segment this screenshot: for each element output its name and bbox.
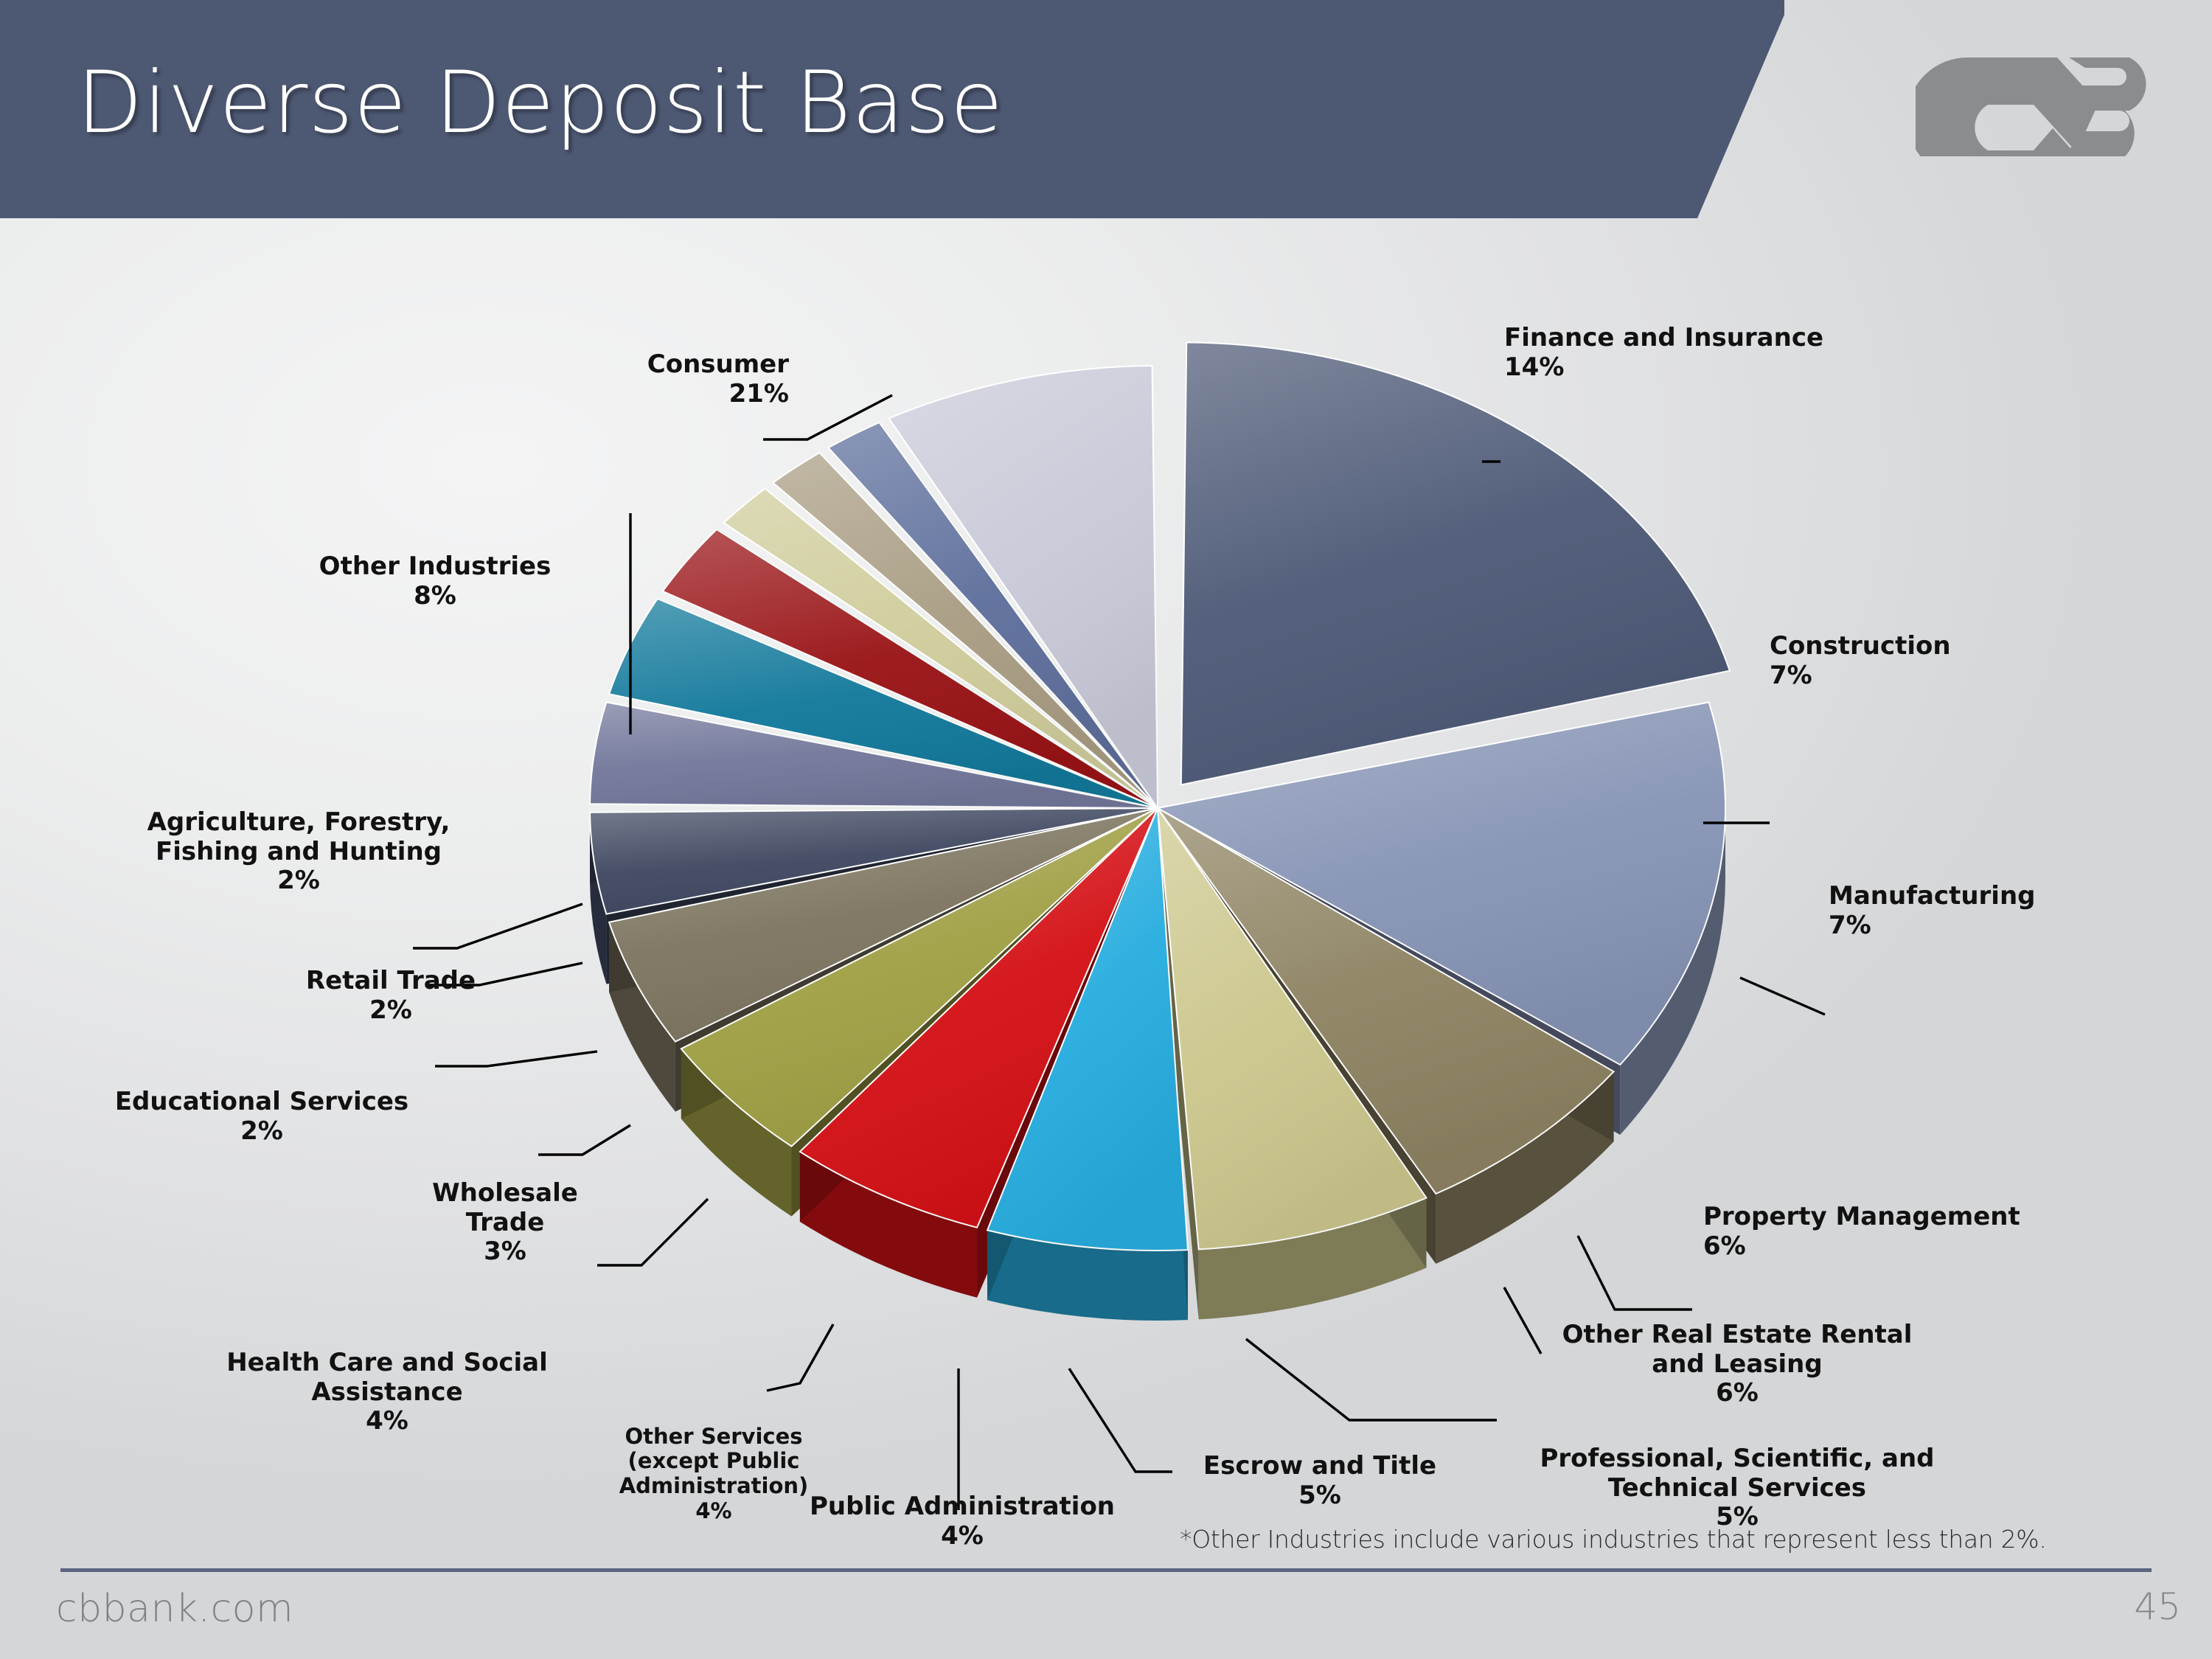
pie-label-health-care-and-social-assistance: Health Care and Social Assistance 4% [184,1320,590,1465]
pie-label-wholesale-trade-name: Wholesale Trade [432,1178,578,1237]
pie-label-agriculture-forestry-fishing-and-hunting: Agriculture, Forestry, Fishing and Hunti… [125,779,472,925]
pie-label-manufacturing-pct: 7% [1829,911,2160,940]
footer-divider [60,1568,2152,1572]
pie-label-health-care-and-social-assistance-name: Health Care and Social Assistance [226,1348,548,1406]
leader-line-10 [597,1199,708,1265]
pie-label-other-real-estate-rental-and-leasing-pct: 6% [1538,1379,1936,1408]
pie-label-educational-services-name: Educational Services [115,1087,408,1116]
leader-line-7 [1069,1368,1172,1472]
pie-label-consumer: Consumer 21% [568,321,789,438]
pie-label-consumer-pct: 21% [568,380,789,408]
pie-label-agriculture-forestry-fishing-and-hunting-pct: 2% [125,866,472,895]
pie-label-educational-services: Educational Services 2% [88,1059,435,1175]
pie-label-finance-and-insurance-name: Finance and Insurance [1504,323,1823,352]
pie-label-property-management-pct: 6% [1703,1232,2087,1261]
page-number: 45 [2134,1585,2181,1628]
pie-label-escrow-and-title-name: Escrow and Title [1203,1451,1436,1481]
pie-label-other-services: Other Services (except Public Administra… [618,1399,810,1548]
pie-label-educational-services-pct: 2% [88,1117,435,1146]
pie-label-wholesale-trade: Wholesale Trade 3% [413,1150,597,1295]
pie-label-wholesale-trade-pct: 3% [413,1237,597,1266]
pie-label-retail-trade-name: Retail Trade [306,966,476,995]
page-title: Diverse Deposit Base [77,53,1004,153]
pie-label-construction: Construction 7% [1770,603,2079,720]
pie-label-other-industries: Other Industries 8% [295,524,575,640]
pie-label-other-services-name: Other Services (except Public Administra… [619,1424,809,1498]
pie-label-health-care-and-social-assistance-pct: 4% [184,1407,590,1436]
pie-label-professional-scientific-and-technical-services-name: Professional, Scientific, and Technical … [1540,1444,1934,1502]
pie-label-other-real-estate-rental-and-leasing-name: Other Real Estate Rental and Leasing [1562,1320,1913,1378]
pie-slice-tops [590,342,1730,1251]
cvb-logo-icon [1916,53,2181,156]
footnote: *Other Industries include various indust… [1180,1525,2047,1554]
pie-label-other-industries-name: Other Industries [319,552,552,581]
leader-line-3 [1740,978,1825,1015]
pie-label-other-industries-pct: 8% [295,582,575,611]
pie-label-property-management: Property Management 6% [1703,1174,2087,1290]
pie-label-retail-trade: Retail Trade 2% [280,938,501,1054]
footer-website-link[interactable]: cbbank.com [56,1587,293,1631]
pie-label-other-services-pct: 4% [618,1499,810,1524]
pie-label-retail-trade-pct: 2% [280,996,501,1025]
pie-label-property-management-name: Property Management [1703,1202,2020,1231]
pie-label-public-administration: Public Administration 4% [804,1464,1121,1580]
pie-label-finance-and-insurance: Finance and Insurance 14% [1504,295,1917,411]
pie-label-agriculture-forestry-fishing-and-hunting-name: Agriculture, Forestry, Fishing and Hunti… [147,807,451,866]
leader-line-9 [767,1324,833,1391]
pie-label-manufacturing-name: Manufacturing [1829,881,2036,911]
pie-label-escrow-and-title-pct: 5% [1180,1481,1460,1510]
leader-line-6 [1246,1339,1497,1420]
pie-label-consumer-name: Consumer [647,349,789,379]
pie-label-public-administration-pct: 4% [804,1522,1121,1551]
pie-label-escrow-and-title: Escrow and Title 5% [1180,1423,1460,1540]
pie-label-public-administration-name: Public Administration [810,1492,1115,1521]
pie-label-manufacturing: Manufacturing 7% [1829,853,2160,970]
pie-label-construction-name: Construction [1770,631,1951,661]
pie-label-construction-pct: 7% [1770,661,2079,690]
leader-line-5 [1504,1287,1541,1354]
pie-label-finance-and-insurance-pct: 14% [1504,353,1917,382]
